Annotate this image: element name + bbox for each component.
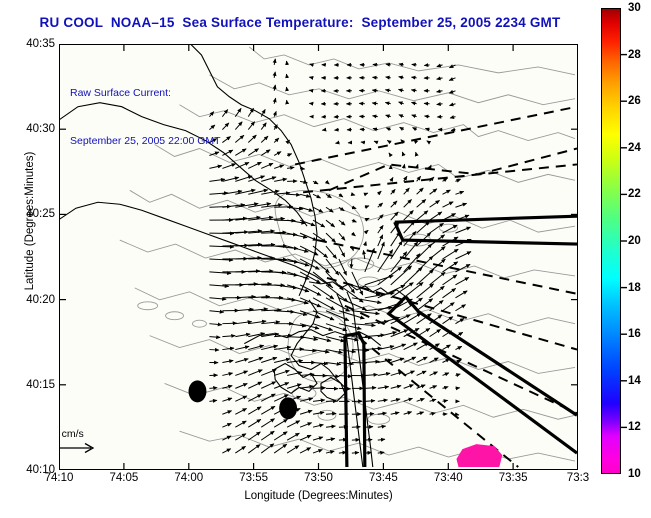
current-vector [222, 164, 235, 169]
current-vector [309, 90, 313, 91]
current-vector [365, 230, 368, 233]
current-vector [417, 399, 425, 402]
current-vector [443, 249, 459, 259]
current-vector [455, 191, 463, 194]
current-vector [287, 421, 300, 427]
current-vector [372, 77, 377, 78]
current-vector [261, 406, 275, 414]
current-vector [286, 74, 287, 78]
current-vector [326, 451, 334, 453]
current-vector [274, 72, 275, 78]
current-vector [402, 152, 403, 155]
current-vector [378, 413, 387, 414]
current-vector [413, 128, 417, 130]
current-vector [248, 108, 253, 116]
current-vector [378, 267, 402, 285]
current-vector [313, 194, 321, 198]
current-vector [222, 361, 233, 363]
current-vector [427, 141, 430, 143]
current-vector [209, 337, 220, 338]
current-vector [313, 400, 325, 401]
current-vector [235, 396, 247, 401]
current-vector [365, 361, 380, 362]
current-vector [261, 232, 286, 233]
current-vector [430, 272, 446, 285]
current-vector [235, 359, 248, 363]
current-vector [248, 407, 261, 414]
current-vector [411, 90, 416, 91]
x-tick-0: 74:10 [45, 472, 74, 484]
current-vector [222, 449, 230, 453]
current-vector [222, 423, 231, 427]
current-annotation: Raw Surface Current: September 25, 2005 … [70, 53, 221, 181]
current-vector [235, 408, 246, 414]
colorbar-tick-20: 20 [628, 235, 641, 247]
current-vector [248, 358, 263, 363]
current-vector [336, 143, 339, 144]
x-tick-5: 73:45 [369, 472, 398, 484]
x-tick-3: 73:55 [239, 472, 268, 484]
current-vector [365, 414, 374, 415]
current-vector [430, 300, 444, 310]
current-vector [437, 78, 443, 79]
current-vector [417, 211, 428, 220]
current-vector [365, 401, 375, 402]
current-vector [209, 324, 221, 325]
current-vector [430, 212, 442, 220]
current-vector [209, 311, 223, 312]
current-vector [274, 138, 279, 142]
current-vector [287, 61, 288, 65]
current-vector [248, 419, 261, 427]
current-vector [365, 388, 376, 389]
current-vector [455, 374, 460, 375]
colorbar-tick-26: 26 [628, 95, 641, 107]
current-vector [372, 90, 377, 91]
current-vector [443, 387, 449, 389]
current-vector [430, 286, 445, 298]
y-tick-0: 40:35 [26, 38, 55, 50]
current-vector [274, 179, 287, 181]
current-vector [372, 103, 378, 104]
current-vector [313, 388, 326, 389]
current-vector [430, 200, 440, 207]
current-vector [417, 188, 424, 194]
current-vector [222, 136, 230, 142]
current-vector [287, 311, 307, 315]
current-vector [261, 419, 274, 428]
current-vector [274, 432, 287, 440]
current-vector [430, 399, 436, 401]
current-vector [261, 150, 270, 156]
current-vector [274, 371, 289, 376]
y-tick-4: 40:15 [26, 379, 55, 391]
current-vector [449, 104, 455, 106]
current-vector [430, 189, 437, 194]
current-vector [417, 412, 424, 414]
current-vector [326, 181, 329, 184]
current-vector [326, 233, 336, 242]
current-vector [437, 91, 443, 92]
current-vector [222, 398, 232, 401]
colorbar-gradient [602, 9, 620, 473]
current-vector [389, 153, 391, 156]
current-vector [300, 435, 311, 440]
current-vector [451, 130, 455, 131]
current-vector [391, 386, 401, 389]
current-vector [235, 149, 246, 156]
x-tick-6: 73:40 [434, 472, 463, 484]
current-vector [378, 235, 383, 246]
current-vector [372, 116, 377, 117]
current-vector [449, 78, 455, 81]
colorbar-tick-10: 10 [628, 468, 641, 480]
current-vector [300, 423, 312, 427]
annotation-line-1: Raw Surface Current: [70, 85, 221, 101]
x-tick-2: 74:00 [174, 472, 203, 484]
current-vector [274, 85, 275, 91]
current-vector [365, 375, 378, 376]
colorbar-tick-28: 28 [628, 49, 641, 61]
current-vector [248, 122, 254, 130]
current-vector [326, 259, 339, 275]
current-vector [300, 181, 307, 182]
current-vector [443, 400, 448, 401]
current-vector [248, 445, 260, 454]
current-vector [417, 222, 430, 233]
x-tick-8: 73:3 [567, 472, 589, 484]
current-vector [391, 412, 399, 414]
current-vector [378, 439, 385, 440]
colorbar-tick-12: 12 [628, 421, 641, 433]
current-vector [287, 446, 299, 453]
current-vector [261, 431, 274, 440]
x-tick-7: 73:35 [499, 472, 528, 484]
current-vector [378, 225, 383, 233]
current-vector [404, 188, 410, 194]
current-vector [248, 432, 260, 440]
current-vector [378, 387, 389, 389]
current-vector [378, 426, 386, 427]
current-vector [339, 194, 343, 197]
current-vector [417, 371, 427, 375]
current-vector [222, 373, 232, 375]
current-vector [300, 168, 305, 169]
current-vector [274, 419, 287, 427]
current-vector [209, 400, 216, 401]
current-vector [222, 336, 235, 337]
current-vector [274, 59, 275, 65]
current-vector [274, 98, 275, 104]
current-vector [404, 242, 418, 259]
current-vector [417, 270, 434, 285]
current-vector [412, 115, 417, 117]
current-vector [378, 400, 388, 401]
current-vector [274, 111, 276, 116]
current-vector [455, 203, 466, 207]
current-vector [404, 176, 407, 181]
current-vector [391, 344, 406, 349]
current-vector [416, 152, 417, 155]
current-vector [443, 275, 457, 285]
current-vector [287, 194, 300, 195]
current-vector [235, 135, 244, 142]
current-vector [235, 346, 249, 349]
current-vector [424, 116, 429, 117]
current-vector [300, 194, 310, 197]
current-vector [209, 388, 217, 389]
current-vector [386, 64, 391, 65]
current-vector [437, 65, 443, 67]
current-vector [455, 252, 471, 259]
current-vector [391, 399, 400, 401]
station-dot-2 [279, 397, 297, 419]
current-vector [399, 102, 404, 104]
current-vector [351, 259, 352, 268]
current-vector [300, 410, 312, 414]
current-vector [391, 201, 397, 207]
current-vector [399, 77, 404, 78]
current-vector [326, 375, 339, 376]
current-vector [430, 329, 441, 336]
current-vector [425, 128, 429, 129]
current-vector [287, 154, 292, 156]
current-vector [261, 177, 276, 181]
current-vector [443, 302, 455, 310]
current-vector [261, 272, 286, 273]
current-vector [248, 370, 262, 376]
current-vector [386, 77, 391, 78]
x-tick-4: 73:50 [304, 472, 333, 484]
current-vector [326, 413, 336, 414]
current-vector [274, 152, 281, 156]
current-vector [309, 77, 313, 78]
x-tick-1: 74:05 [109, 472, 138, 484]
current-vector [287, 167, 294, 168]
current-vector [287, 285, 309, 292]
current-vector [443, 202, 454, 207]
cold-sst-patch [456, 444, 502, 467]
current-vector [443, 345, 451, 350]
current-vector [235, 122, 242, 130]
current-vector [300, 448, 311, 453]
current-vector [248, 162, 261, 168]
current-vector [248, 149, 258, 156]
current-vector [450, 117, 455, 118]
current-vector [404, 385, 414, 389]
current-vector [404, 164, 405, 168]
arrow-right-icon [59, 440, 145, 456]
current-vector [374, 141, 378, 142]
colorbar-tick-16: 16 [628, 328, 641, 340]
current-vector [235, 384, 247, 389]
current-vector [222, 386, 232, 389]
current-vector [261, 382, 276, 389]
current-vector [411, 102, 416, 103]
figure-title: RU COOL NOAA–15 Sea Surface Temperature:… [0, 15, 600, 30]
current-vector [313, 437, 323, 440]
current-vector [399, 115, 404, 117]
colorbar-tick-22: 22 [628, 188, 641, 200]
current-vector [222, 123, 228, 130]
current-vector [385, 90, 390, 91]
colorbar-tick-18: 18 [628, 282, 641, 294]
current-vector [326, 246, 337, 258]
current-vector [455, 277, 468, 284]
station-dot-1 [189, 380, 207, 402]
y-axis-label: Latitude (Degrees:Minutes) [24, 111, 36, 331]
current-vector [313, 425, 323, 428]
current-vector [449, 91, 455, 93]
current-vector [455, 388, 459, 389]
current-vector [386, 115, 391, 116]
temperature-colorbar [601, 8, 621, 474]
current-vector [222, 411, 231, 415]
current-vector [313, 363, 328, 364]
colorbar-tick-24: 24 [628, 142, 641, 154]
current-vector [399, 64, 404, 65]
current-vector [391, 358, 404, 362]
current-vector [387, 140, 390, 142]
current-vector [352, 452, 359, 453]
current-vector [322, 130, 326, 131]
colorbar-tick-30: 30 [628, 2, 641, 14]
current-vector [455, 305, 465, 311]
current-vector [424, 65, 429, 66]
current-vector [365, 242, 366, 246]
x-axis-tick-labels: 74:10 74:05 74:00 73:55 73:50 73:45 73:4… [59, 472, 578, 492]
current-vector [443, 288, 456, 297]
current-vector [385, 102, 390, 103]
current-vector [339, 220, 345, 225]
current-vector [326, 220, 335, 227]
current-vector [352, 207, 356, 208]
current-vector [391, 189, 395, 194]
current-vector [437, 104, 443, 105]
current-vector [261, 136, 268, 142]
current-vector [235, 108, 241, 116]
current-vector [443, 373, 449, 376]
current-vector [339, 246, 345, 257]
current-vector [235, 371, 247, 375]
current-vector [352, 311, 380, 314]
current-vector [261, 394, 275, 401]
current-vector [326, 426, 335, 427]
current-vector [404, 412, 412, 414]
current-vector [365, 193, 368, 194]
current-vector [365, 206, 369, 207]
current-vector [417, 176, 421, 181]
current-vector [430, 386, 437, 389]
current-vector [235, 421, 246, 427]
current-vector [378, 373, 390, 375]
current-vector [417, 357, 428, 362]
current-vector [400, 127, 404, 129]
current-vector [443, 190, 451, 194]
current-vector [300, 398, 313, 401]
current-vector [386, 128, 390, 130]
vector-scale-legend: 50 cm/s [59, 428, 145, 461]
current-vector [455, 346, 461, 349]
current-vector [287, 298, 308, 304]
current-vector [391, 177, 393, 181]
current-vector [274, 165, 284, 168]
current-vector [404, 199, 412, 207]
map-plot-area: Raw Surface Current: September 25, 2005 … [59, 44, 578, 470]
current-vector [326, 439, 335, 441]
current-vector [404, 343, 418, 350]
current-vector [222, 323, 236, 324]
x-axis-label: Longitude (Degrees:Minutes) [59, 490, 578, 502]
current-vector [378, 191, 381, 194]
sst-map-figure: RU COOL NOAA–15 Sea Surface Temperature:… [0, 0, 651, 518]
current-vector [398, 89, 403, 90]
current-vector [274, 272, 298, 275]
current-vector [261, 163, 273, 168]
current-vector [411, 77, 416, 78]
annotation-line-2: September 25, 2005 22:00 GMT [70, 133, 221, 149]
current-vector [248, 382, 262, 388]
current-vector [248, 135, 256, 142]
vector-scale-label: 50 cm/s [59, 428, 145, 440]
current-vector [417, 199, 426, 207]
current-vector [261, 358, 277, 363]
current-vector [235, 334, 250, 337]
surface-current-vectors [209, 59, 471, 453]
current-vector [373, 129, 378, 130]
current-vector [455, 414, 458, 415]
current-vector [430, 413, 436, 414]
current-vector [235, 446, 245, 453]
current-vector [352, 220, 357, 222]
current-vector [313, 181, 318, 184]
current-vector [430, 372, 438, 376]
current-vector [313, 450, 322, 453]
current-vector [455, 291, 467, 298]
current-vector [286, 87, 287, 91]
current-vector [326, 363, 341, 365]
current-vector [378, 203, 383, 207]
current-vector [404, 398, 413, 401]
current-vector [335, 130, 339, 131]
current-vector [352, 194, 355, 195]
colorbar-tick-14: 14 [628, 375, 641, 387]
current-vector [352, 233, 356, 236]
current-vector [352, 298, 381, 303]
current-vector [430, 223, 444, 233]
current-vector [455, 179, 460, 181]
current-vector [261, 123, 266, 130]
current-vector [339, 233, 345, 240]
current-vector [313, 285, 334, 299]
